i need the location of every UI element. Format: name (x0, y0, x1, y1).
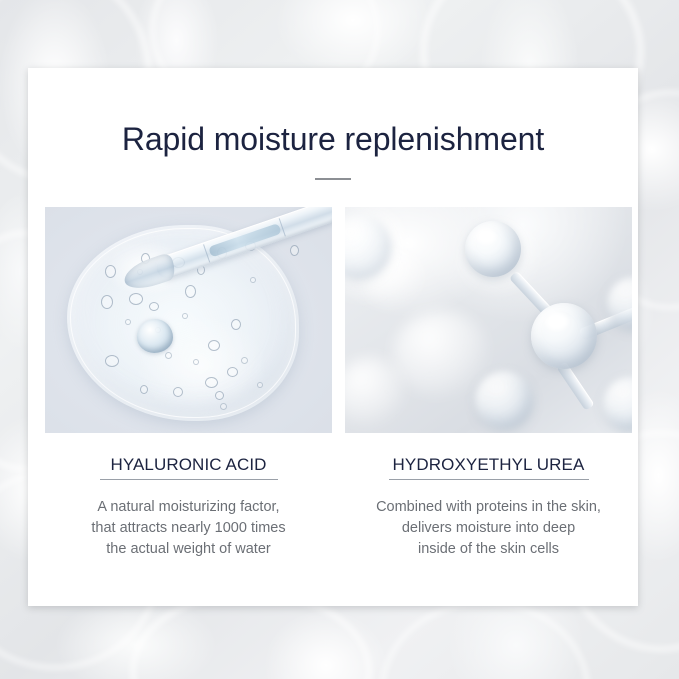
content-card: Rapid moisture replenishment (28, 68, 638, 606)
ingredient-name-underline-right (389, 479, 589, 480)
atom-sphere (531, 303, 597, 369)
atom-sphere (465, 221, 521, 277)
ingredient-column-hydroxyethyl-urea: HYDROXYETHYL UREA Combined with proteins… (345, 207, 632, 560)
ingredient-name-left: HYALURONIC ACID (45, 455, 332, 475)
ingredient-name-underline-left (100, 479, 278, 480)
molecule-image (345, 207, 632, 433)
ingredient-description-left: A natural moisturizing factor, that attr… (45, 497, 332, 560)
ingredient-column-hyaluronic-acid: HYALURONIC ACID A natural moisturizing f… (45, 207, 332, 560)
ingredient-columns: HYALURONIC ACID A natural moisturizing f… (45, 207, 632, 560)
atom-sphere (475, 371, 533, 429)
gel-drop-highlight (137, 319, 173, 353)
page-title: Rapid moisture replenishment (28, 121, 638, 158)
title-divider (315, 178, 351, 180)
atom-sphere (603, 377, 632, 431)
ingredient-name-right: HYDROXYETHYL UREA (345, 455, 632, 475)
product-infographic: Rapid moisture replenishment (0, 0, 679, 679)
gel-droplet-image (45, 207, 332, 433)
ingredient-description-right: Combined with proteins in the skin, deli… (345, 497, 632, 560)
